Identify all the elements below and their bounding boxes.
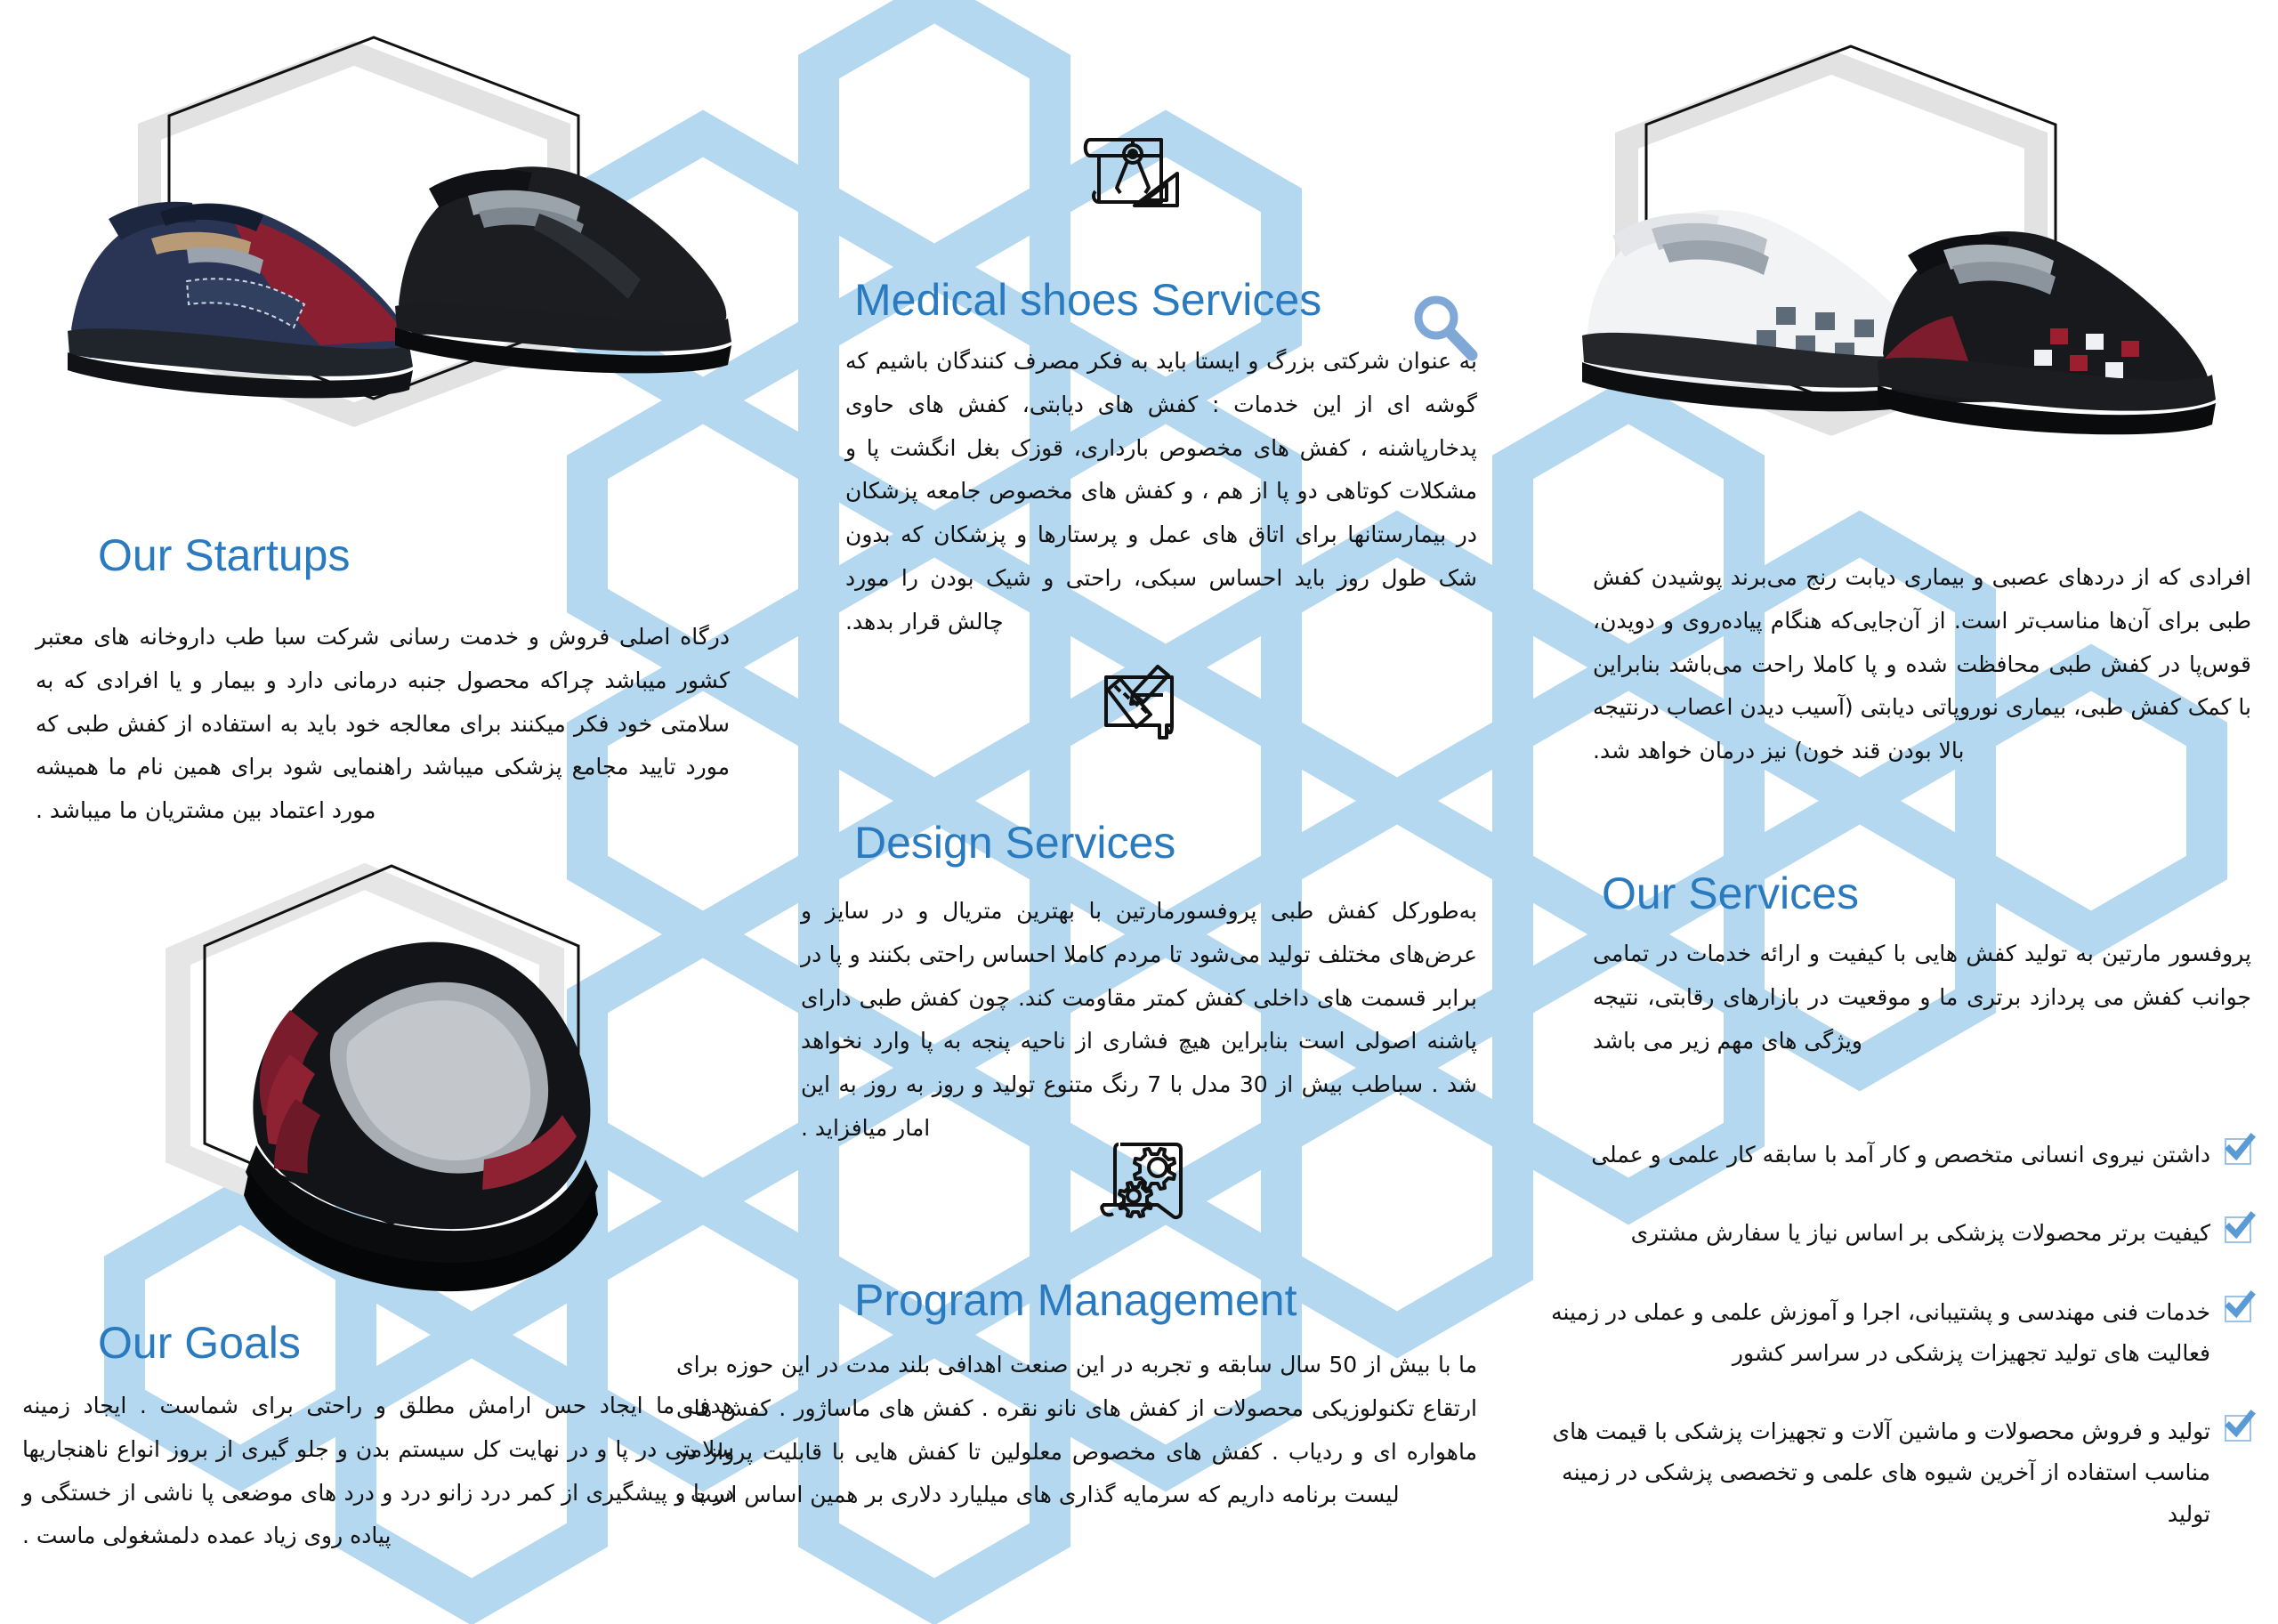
checklist-item[interactable]: داشتن نیروی انسانی متخصص و کار آمد با سا…	[1548, 1135, 2251, 1176]
checklist-item-label: خدمات فنی مهندسی و پشتیبانی، اجرا و آموز…	[1551, 1299, 2210, 1366]
check-icon	[2225, 1138, 2251, 1165]
blueprint-compass-icon	[1072, 120, 1188, 236]
our-startups-body: درگاه اصلی فروش و خدمت رسانی شرکت سبا طب…	[36, 616, 730, 833]
program-management-title: Program Management	[854, 1274, 1495, 1326]
section-design-services: Design Services	[854, 817, 1477, 869]
checklist-item-label: کیفیت برتر محصولات پزشکی بر اساس نیاز یا…	[1631, 1220, 2210, 1246]
check-icon	[2225, 1296, 2251, 1322]
our-services-body: پروفسور مارتین به تولید کفش هایی با کیفی…	[1593, 933, 2251, 1062]
section-program-management: Program Management	[854, 1274, 1495, 1326]
checklist-item[interactable]: خدمات فنی مهندسی و پشتیبانی، اجرا و آموز…	[1548, 1292, 2251, 1375]
check-icon	[2225, 1216, 2251, 1243]
section-medical-shoes: Medical shoes Services	[854, 274, 1477, 326]
our-services-title: Our Services	[1602, 868, 2225, 919]
section-our-goals: Our Goals	[98, 1317, 721, 1369]
photo-black-slipon-shoe	[374, 89, 747, 392]
design-services-title: Design Services	[854, 817, 1477, 869]
our-goals-title: Our Goals	[98, 1317, 721, 1369]
check-icon	[2225, 1415, 2251, 1442]
our-services-checklist: داشتن نیروی انسانی متخصص و کار آمد با سا…	[1548, 1135, 2251, 1535]
checklist-item[interactable]: تولید و فروش محصولات و ماشین آلات و تجهی…	[1548, 1411, 2251, 1535]
photo-black-checkered-shoe	[1860, 147, 2234, 449]
our-startups-title: Our Startups	[98, 529, 721, 581]
pencil-ruler-icon	[1081, 654, 1197, 770]
checklist-item-label: تولید و فروش محصولات و ماشین آلات و تجهی…	[1553, 1418, 2210, 1527]
checklist-item[interactable]: کیفیت برتر محصولات پزشکی بر اساس نیاز یا…	[1548, 1213, 2251, 1254]
section-our-startups: Our Startups	[98, 529, 721, 581]
photo-black-burgundy-wedge-shoe	[160, 877, 641, 1295]
program-management-body: ما با بیش از 50 سال سابقه و تجربه در این…	[676, 1344, 1477, 1517]
magnifier-icon	[1406, 289, 1486, 369]
medical-shoes-body: به عنوان شرکتی بزرگ و ایستا باید به فکر …	[845, 340, 1477, 643]
section-our-services: Our Services	[1602, 868, 2225, 919]
our-goals-body: هدف ما ایجاد حس ارامش مطلق و راحتی برای …	[22, 1385, 734, 1558]
design-services-body: به‌طورکل کفش طبی پروفسورمارتین با بهترین…	[801, 890, 1477, 1151]
document-gears-icon	[1090, 1128, 1206, 1244]
medical-shoes-title: Medical shoes Services	[854, 274, 1477, 326]
diabetic-note-body: افرادی که از دردهای عصبی و بیماری دیابت …	[1593, 556, 2251, 773]
checklist-item-label: داشتن نیروی انسانی متخصص و کار آمد با سا…	[1591, 1142, 2210, 1168]
